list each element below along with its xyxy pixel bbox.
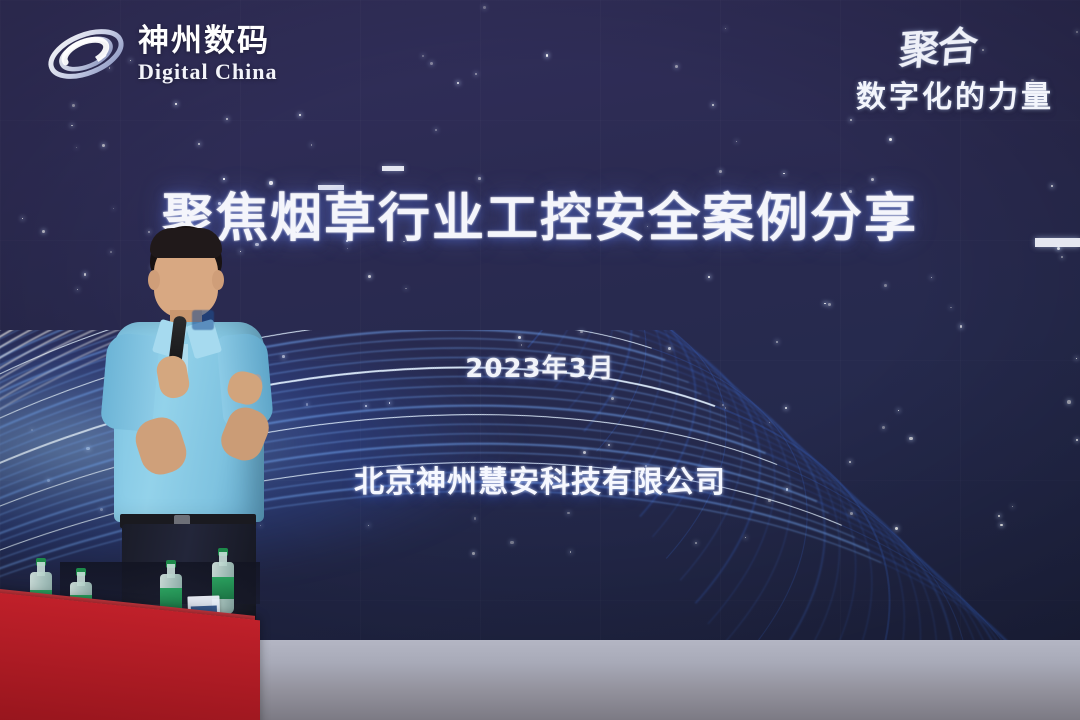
particle-dot bbox=[1076, 31, 1078, 33]
particle-dot bbox=[475, 73, 477, 75]
event-slogan-logo: 聚合 数字化的力量 bbox=[856, 16, 1054, 116]
particle-dot bbox=[889, 138, 892, 141]
brand-name-cn: 神州数码 bbox=[138, 26, 278, 57]
particle-dot bbox=[824, 303, 825, 304]
slogan-calligraphy: 聚合 bbox=[898, 13, 979, 76]
brand-name-en: Digital China bbox=[138, 61, 278, 83]
particle-dot bbox=[708, 276, 710, 278]
particle-dot bbox=[719, 170, 722, 173]
particle-dot bbox=[931, 277, 933, 279]
particle-dot bbox=[299, 114, 301, 116]
particle-dot bbox=[226, 118, 228, 120]
particle-dot bbox=[736, 141, 737, 142]
particle-dot bbox=[368, 275, 371, 278]
particle-dot bbox=[884, 284, 887, 287]
particle-dot bbox=[71, 125, 72, 126]
digital-china-wordmark: 神州数码 Digital China bbox=[138, 26, 278, 83]
particle-dot bbox=[84, 273, 86, 275]
particle-dot bbox=[950, 307, 952, 309]
particle-dot bbox=[77, 289, 78, 290]
particle-dot bbox=[828, 303, 831, 306]
particle-dot bbox=[422, 55, 424, 57]
presenter-ear-right bbox=[212, 270, 224, 290]
particle-dot bbox=[546, 54, 549, 57]
particle-dot bbox=[405, 288, 407, 290]
particle-dot bbox=[483, 6, 486, 9]
presenter-hair-front bbox=[150, 228, 222, 258]
particle-dot bbox=[76, 147, 78, 149]
presenter-sleeve-left bbox=[100, 332, 160, 432]
particle-dot bbox=[783, 173, 785, 175]
particle-dot bbox=[198, 143, 200, 145]
accent-bar-top-center bbox=[382, 166, 404, 171]
particle-dot bbox=[102, 144, 106, 148]
particle-dot bbox=[435, 129, 437, 131]
conference-stage-photo: 神州数码 Digital China 聚合 数字化的力量 聚焦烟草行业工控安全案… bbox=[0, 0, 1080, 720]
particle-dot bbox=[72, 104, 75, 107]
particle-dot bbox=[457, 82, 459, 84]
particle-dot bbox=[712, 104, 714, 106]
particle-dot bbox=[430, 62, 434, 66]
presenter-ear-left bbox=[148, 270, 160, 290]
slogan-subtitle: 数字化的力量 bbox=[856, 72, 1054, 116]
particle-dot bbox=[850, 119, 852, 121]
digital-china-swirl-icon bbox=[44, 14, 128, 94]
particle-dot bbox=[311, 144, 313, 146]
company-chest-logo-icon bbox=[192, 310, 214, 330]
particle-dot bbox=[675, 65, 678, 68]
particle-dot bbox=[1061, 256, 1063, 258]
particle-dot bbox=[175, 103, 176, 104]
digital-china-logo: 神州数码 Digital China bbox=[44, 14, 278, 94]
particle-dot bbox=[960, 325, 962, 327]
particle-dot bbox=[725, 28, 726, 29]
